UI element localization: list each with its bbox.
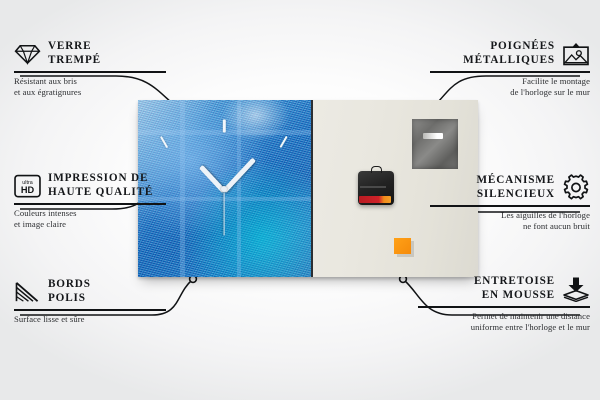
callout-bords-polis: BORDS POLIS Surface lisse et sûre (14, 278, 166, 325)
product-image (138, 100, 478, 277)
callout-verre-trempe: VERRE TREMPÉ Résistant aux bris et aux é… (14, 40, 166, 98)
callout-description-line: Permet de maintenir une distance (418, 311, 590, 322)
hanger-slot (423, 133, 443, 139)
gear-icon (562, 174, 590, 201)
callout-title: VERRE TREMPÉ (48, 40, 101, 67)
callout-mecanisme-silencieux: MÉCANISME SILENCIEUX Les aiguilles de l'… (430, 174, 590, 232)
callout-title: BORDS POLIS (48, 278, 91, 305)
callout-description-line: Résistant aux bris (14, 76, 166, 87)
infographic-canvas: VERRE TREMPÉ Résistant aux bris et aux é… (0, 0, 600, 400)
callout-description-line: Couleurs intenses (14, 208, 166, 219)
callout-header: ultra HD IMPRESSION DE HAUTE QUALITÉ (14, 172, 166, 199)
ultra-hd-icon: ultra HD (14, 174, 41, 198)
callout-header: VERRE TREMPÉ (14, 40, 166, 67)
callout-impression-haute-qualite: ultra HD IMPRESSION DE HAUTE QUALITÉ Cou… (14, 172, 166, 230)
callout-header: MÉCANISME SILENCIEUX (430, 174, 590, 201)
callout-entretoise-en-mousse: ENTRETOISE EN MOUSSE Permet de maintenir… (418, 275, 590, 333)
callout-header: BORDS POLIS (14, 278, 166, 305)
hanger-plate (412, 119, 458, 169)
callout-description-line: Facilite le montage (430, 76, 590, 87)
callout-header: ENTRETOISE EN MOUSSE (418, 275, 590, 302)
foam-spacer (394, 238, 411, 254)
mechanism-label (359, 196, 391, 203)
callout-divider (14, 71, 166, 73)
callout-divider (14, 309, 166, 311)
callout-title: IMPRESSION DE HAUTE QUALITÉ (48, 172, 153, 199)
mechanism-seam (360, 186, 386, 188)
callout-divider (418, 306, 590, 308)
callout-description-line: et aux égratignures (14, 87, 166, 98)
callout-description-line: Les aiguilles de l'horloge (430, 210, 590, 221)
callout-title: POIGNÉES MÉTALLIQUES (463, 40, 555, 67)
clock-mechanism (358, 171, 394, 205)
diamond-icon (14, 43, 41, 65)
callout-title: ENTRETOISE EN MOUSSE (474, 275, 555, 302)
callout-header: POIGNÉES MÉTALLIQUES (430, 40, 590, 67)
callout-divider (430, 205, 590, 207)
callout-description-line: uniforme entre l'horloge et le mur (418, 322, 590, 333)
foam-spacer-icon (562, 276, 590, 302)
picture-hanger-icon (562, 42, 590, 66)
callout-description-line: et image claire (14, 219, 166, 230)
polished-edge-icon (14, 281, 41, 303)
callout-description-line: Surface lisse et sûre (14, 314, 166, 325)
callout-description-line: ne font aucun bruit (430, 221, 590, 232)
callout-title: MÉCANISME SILENCIEUX (476, 174, 555, 201)
callout-description-line: de l'horloge sur le mur (430, 87, 590, 98)
callout-divider (430, 71, 590, 73)
svg-text:HD: HD (21, 185, 35, 195)
callout-poignees-metalliques: POIGNÉES MÉTALLIQUES Facilite le montage… (430, 40, 590, 98)
mechanism-hook (371, 166, 382, 173)
callout-divider (14, 203, 166, 205)
